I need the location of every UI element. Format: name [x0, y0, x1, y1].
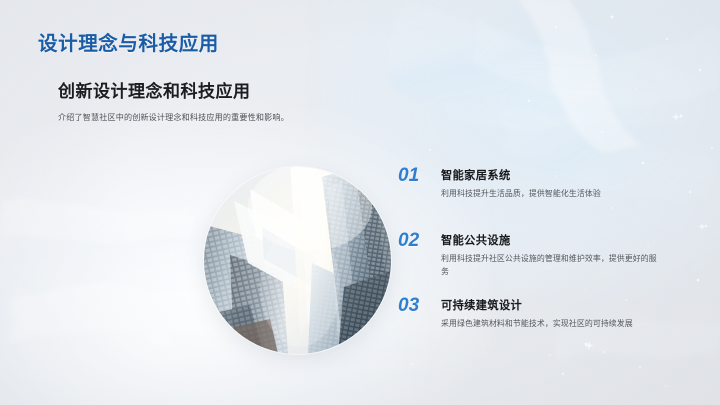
- skyscraper-photo: [204, 167, 391, 354]
- section-subtitle: 创新设计理念和科技应用: [58, 77, 251, 102]
- list-item[interactable]: 01 智能家居系统 利用科技提升生活品质，提供智能化生活体验: [398, 165, 698, 229]
- item-description: 利用科技提升社区公共设施的管理和维护效率，提供更好的服务: [441, 253, 662, 279]
- section-description: 介绍了智慧社区中的创新设计理念和科技应用的重要性和影响。: [58, 111, 310, 124]
- list-item[interactable]: 02 智能公共设施 利用科技提升社区公共设施的管理和维护效率，提供更好的服务: [398, 230, 698, 294]
- feature-list: 01 智能家居系统 利用科技提升生活品质，提供智能化生活体验 02 智能公共设施…: [398, 165, 698, 359]
- list-item[interactable]: 03 可持续建筑设计 采用绿色建筑材料和节能技术，实现社区的可持续发展: [398, 295, 698, 359]
- item-description: 利用科技提升生活品质，提供智能化生活体验: [441, 188, 662, 201]
- item-heading: 可持续建筑设计: [441, 295, 698, 313]
- item-number: 01: [398, 165, 419, 187]
- item-number: 02: [398, 230, 419, 252]
- item-description: 采用绿色建筑材料和节能技术，实现社区的可持续发展: [441, 318, 662, 331]
- skyscraper-illustration: [204, 167, 391, 354]
- item-heading: 智能家居系统: [441, 165, 698, 183]
- item-number: 03: [398, 295, 419, 317]
- page-title: 设计理念与科技应用: [38, 27, 219, 56]
- item-heading: 智能公共设施: [441, 230, 698, 248]
